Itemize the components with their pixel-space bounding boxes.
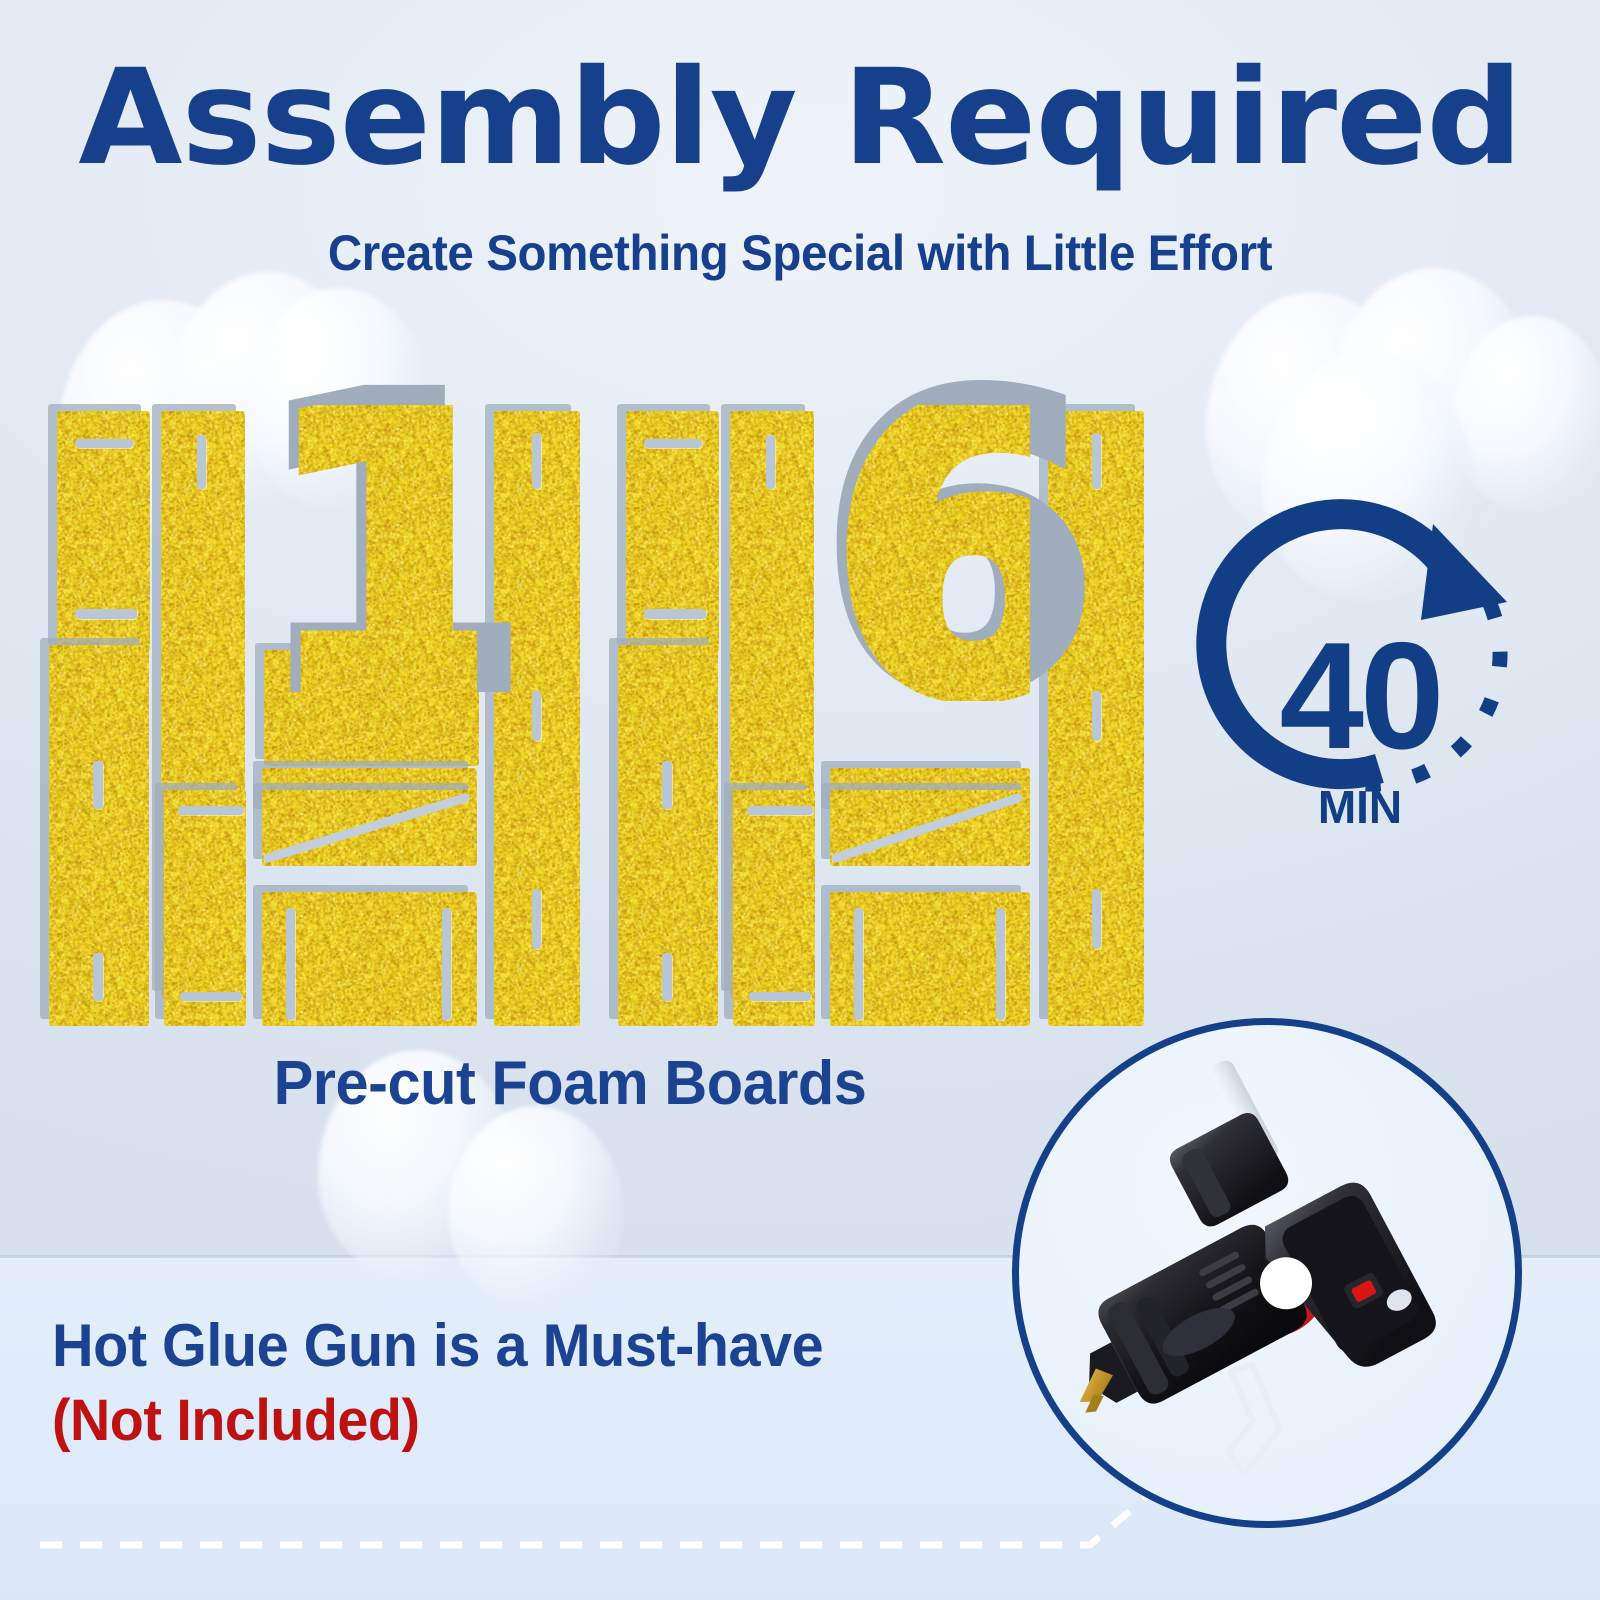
board-slot-2 [180, 992, 242, 1001]
strip-b-lower [164, 790, 246, 1026]
board-slot-1 [197, 435, 206, 489]
board-slot-1 [178, 806, 244, 815]
board-slot-2 [644, 609, 706, 619]
board-slot-1 [75, 439, 133, 448]
board-slot-1 [286, 908, 295, 1020]
board-slot-2 [75, 609, 137, 619]
board-slot-2 [749, 992, 811, 1001]
strip-b-lower [733, 790, 815, 1026]
brace-diagonal-cut [830, 790, 1030, 866]
glue-gun-inset-circle [1012, 1018, 1522, 1528]
numeral-face: 6 [830, 405, 1030, 701]
numeral-1-group-numeral: 11 [262, 405, 477, 701]
numeral-6-group-numeral: 66 [830, 405, 1030, 701]
strip-a-lower [618, 645, 718, 1026]
board-slot-1 [854, 908, 863, 1020]
assembly-time-badge: 40 MIN [1185, 492, 1535, 892]
board-slot-1 [662, 761, 672, 809]
assembly-time-unit: MIN [1185, 784, 1535, 830]
board-slot-3 [1092, 889, 1101, 949]
board-face [164, 790, 246, 1026]
board-slot-2 [662, 953, 672, 1001]
board-slot-2 [93, 953, 103, 1001]
board-slot-1 [644, 439, 702, 448]
board-slot-1 [93, 761, 103, 809]
strip-a-upper [57, 411, 150, 652]
base-plate [830, 892, 1030, 1026]
board-slot-3 [532, 889, 541, 949]
board-face [733, 790, 815, 1026]
brace-diagonal-cut [262, 790, 477, 866]
infographic-canvas: Assembly Required Create Something Speci… [0, 0, 1600, 1600]
board-slot-2 [442, 908, 451, 1020]
caption-not-included: (Not Included) [52, 1392, 420, 1450]
assembly-time-value: 40 [1185, 620, 1535, 772]
caption-glue-gun-must-have: Hot Glue Gun is a Must-have [52, 1316, 823, 1376]
hot-glue-gun-icon [1019, 1025, 1515, 1521]
base-plate [262, 892, 477, 1026]
board-slot-2 [996, 908, 1005, 1020]
board-slot-1 [766, 435, 775, 489]
strip-a-upper [626, 411, 719, 652]
numeral-face: 1 [262, 405, 477, 701]
strip-a-lower [49, 645, 149, 1026]
board-slot-1 [747, 806, 813, 815]
caption-foam-boards: Pre-cut Foam Boards [80, 1048, 1059, 1119]
